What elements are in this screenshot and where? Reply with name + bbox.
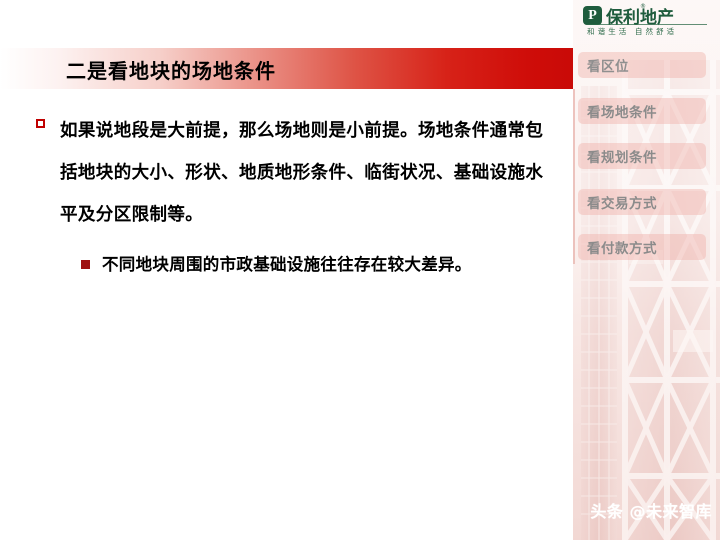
sidebar-item-label: 看场地条件 [587, 101, 657, 121]
page-title: 二是看地块的场地条件 [66, 55, 276, 84]
sidebar-edge-line [573, 89, 575, 264]
bullet-item-level1: 如果说地段是大前提，那么场地则是小前提。场地条件通常包括地块的大小、形状、地质地… [36, 110, 556, 236]
poly-p-logo-icon: P [583, 6, 602, 25]
logo-tagline: 和谐生活 自然舒适 [587, 26, 677, 37]
sidebar-item-label: 看区位 [587, 55, 629, 75]
sidebar-item-label: 看交易方式 [587, 192, 657, 212]
registered-trademark-icon: ® [640, 3, 646, 10]
brand-logo: P 保利®地产 和谐生活 自然舒适 [573, 0, 720, 46]
sidebar-item-label: 看付款方式 [587, 237, 657, 257]
bullet-item-level2: 不同地块周围的市政基础设施往往存在较大差异。 [81, 252, 556, 278]
logo-brand-text-2: 地产 [640, 8, 674, 28]
logo-divider [587, 24, 707, 25]
sidebar-panel: P 保利®地产 和谐生活 自然舒适 看区位 看场地条件 看规划条件 看交易方式 … [573, 0, 720, 540]
sidebar-item-site-conditions[interactable]: 看场地条件 [578, 98, 706, 124]
panel-overlay-wash [573, 0, 720, 540]
slide-canvas: 二是看地块的场地条件 如果说地段是大前提，那么场地则是小前提。场地条件通常包括地… [0, 0, 720, 540]
sidebar-item-payment-method[interactable]: 看付款方式 [578, 234, 706, 260]
bullet-level1-text: 如果说地段是大前提，那么场地则是小前提。场地条件通常包括地块的大小、形状、地质地… [60, 110, 556, 236]
sidebar-item-transaction-method[interactable]: 看交易方式 [578, 189, 706, 215]
slide-body: 如果说地段是大前提，那么场地则是小前提。场地条件通常包括地块的大小、形状、地质地… [36, 110, 556, 278]
sidebar-item-location[interactable]: 看区位 [578, 52, 706, 78]
sidebar-item-planning-conditions[interactable]: 看规划条件 [578, 143, 706, 169]
logo-brand-text: 保利 [606, 8, 640, 28]
sidebar-item-label: 看规划条件 [587, 146, 657, 166]
hollow-square-bullet-icon [36, 119, 45, 128]
watermark-text: 头条 @未来智库 [590, 498, 712, 522]
bullet-level2-text: 不同地块周围的市政基础设施往往存在较大差异。 [102, 252, 472, 278]
solid-square-bullet-icon [81, 260, 90, 269]
